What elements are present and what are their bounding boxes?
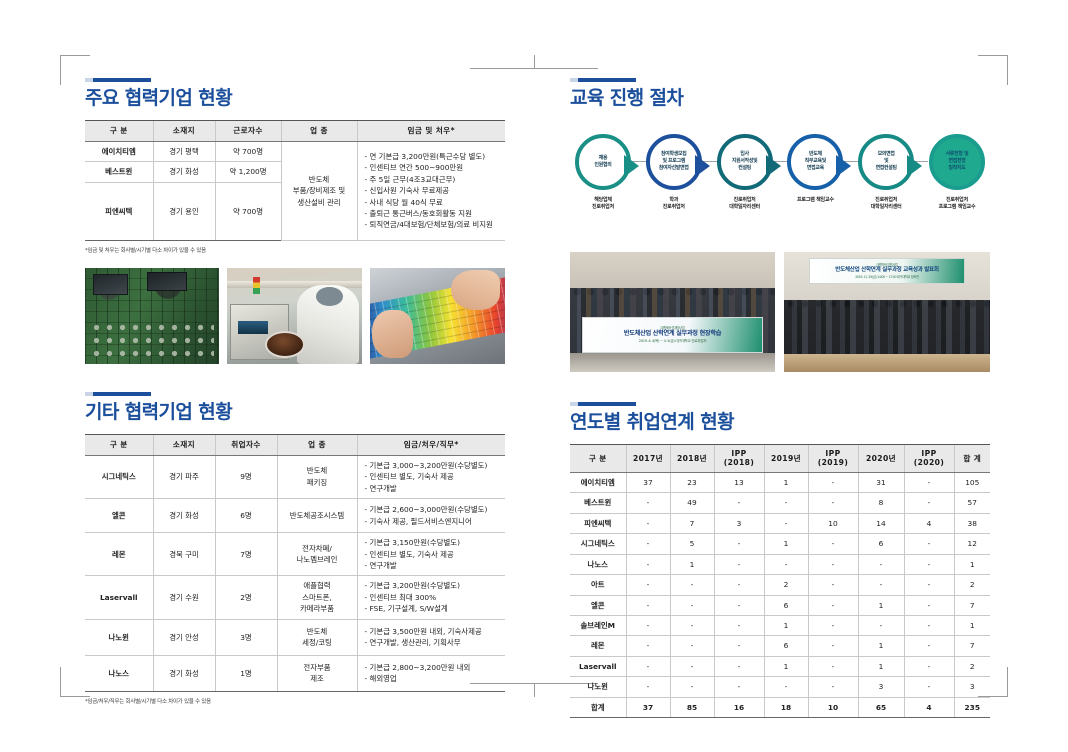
industry-line: 나노멤브레인 <box>282 554 353 565</box>
industry-line: 반도체 <box>286 174 353 185</box>
banner-title: 반도체산업 산학연계 실무과정 교육성과 발표회 <box>835 267 939 273</box>
cell-industry: 반도체공조시스템 <box>277 499 357 533</box>
photo-banner-left: 대학혁신지원사업 반도체산업 산학연계 실무과정 현장학습 2019. 4. 4… <box>582 317 762 353</box>
photo-pair-group: 대학혁신지원사업 반도체산업 산학연계 실무과정 현장학습 2019. 4. 4… <box>570 252 990 372</box>
cell-year-value: - <box>904 656 954 676</box>
detail-line: - FSE, 기구설계, S/W설계 <box>365 603 502 614</box>
cell-year-value: 1 <box>858 656 904 676</box>
cell-year-value: - <box>626 513 670 533</box>
cell-year-value: - <box>626 493 670 513</box>
cell-year-value: 18 <box>764 697 808 717</box>
industry-line: 생산설비 관리 <box>286 197 353 208</box>
cell-year-value: 2 <box>764 575 808 595</box>
cell-year-value: - <box>904 472 954 492</box>
banner-date: 2019. 4. 4(목) ~ 4. 5(금) 대구대학교 진로취업처 <box>624 339 721 344</box>
cell-year-value: - <box>626 656 670 676</box>
cell-location: 경기 평택 <box>153 141 215 161</box>
cell-year-value: - <box>626 677 670 697</box>
table-row: 엘콘 경기 화성 6명 반도체공조시스템 - 기본급 2,600~3,000만원… <box>85 499 505 533</box>
cell-company-name: 나노스 <box>570 554 626 574</box>
cell-industry: 전자차폐/ 나노멤브레인 <box>277 533 357 576</box>
heading-rule <box>85 392 151 396</box>
cell-details: - 기본급 2,600~3,000만원(수당별도) - 기숙사 제공, 필드서비… <box>357 499 505 533</box>
cell-company-name: 엘콘 <box>570 595 626 615</box>
cell-workers: 약 1,200명 <box>215 162 281 182</box>
heading-rule <box>570 402 636 406</box>
cell-year-value: - <box>764 677 808 697</box>
cell-year-value: - <box>904 677 954 697</box>
industry-line: 반도체 <box>282 465 353 476</box>
cell-year-value: - <box>904 615 954 635</box>
cell-year-value: - <box>714 656 764 676</box>
table-row: 아트---2---2 <box>570 575 990 595</box>
cell-year-value: - <box>904 636 954 656</box>
step-line: 컨설팅 <box>732 165 758 172</box>
col-header-industry: 업 종 <box>277 434 357 455</box>
industry-line: 카메라부품 <box>282 603 353 614</box>
cell-company-name: Laservall <box>570 656 626 676</box>
caption-line: 대학일자리센터 <box>729 204 760 212</box>
cell-year-value: 7 <box>954 595 990 615</box>
cell-industry: 반도체 패키징 <box>277 455 357 498</box>
cell-year-value: - <box>626 595 670 615</box>
cell-year-value: 57 <box>954 493 990 513</box>
arrow-right-icon <box>695 155 710 177</box>
detail-line: - 인센티브 별도, 기숙사 제공 <box>365 471 502 482</box>
cell-hires: 2명 <box>215 576 277 619</box>
step-line: 인원협의 <box>595 162 612 169</box>
industry-line: 스마트폰, <box>282 592 353 603</box>
cell-year-value: 3 <box>858 677 904 697</box>
cell-year-value: - <box>904 554 954 574</box>
cell-year-value: - <box>626 554 670 574</box>
cell-company-name: 베스트윈 <box>570 493 626 513</box>
cell-year-value: 6 <box>764 636 808 656</box>
cell-company-name: 엘콘 <box>85 499 153 533</box>
cell-company-name: 피엔씨텍 <box>85 182 153 240</box>
cell-year-value: 105 <box>954 472 990 492</box>
cell-year-value: 3 <box>954 677 990 697</box>
right-column: 교육 진행 절차 채용 인원협의 해당업체 <box>570 78 990 718</box>
process-step-circle: 반도체 직무교육및 면접교육 <box>787 134 843 190</box>
col-header-location: 소재지 <box>153 434 215 455</box>
col-header-ipp2018: IPP (2018) <box>714 444 764 472</box>
col-header-industry: 업 종 <box>281 120 357 141</box>
cell-company-name: 레몬 <box>570 636 626 656</box>
industry-line: 패키징 <box>282 477 353 488</box>
photo-field-study-group: 대학혁신지원사업 반도체산업 산학연계 실무과정 현장학습 2019. 4. 4… <box>570 252 775 372</box>
cell-year-value: 5 <box>670 534 714 554</box>
cell-wage-benefits: - 연 기본급 3,200만원(특근수당 별도) - 인센티브 연간 500~9… <box>357 141 505 240</box>
caption-line: 프로그램 책임교수 <box>939 204 976 212</box>
cell-year-value: - <box>670 677 714 697</box>
page-title-other-partners: 기타 협력기업 현황 <box>85 402 505 424</box>
detail-line: - 기본급 2,800~3,200만원 내외 <box>365 662 502 673</box>
cell-year-value: - <box>904 575 954 595</box>
left-column: 주요 협력기업 현황 구 분 소재지 근로자수 업 종 임금 및 처우* 에이치… <box>85 78 505 705</box>
cell-company-name: 에이치티엠 <box>85 141 153 161</box>
banner-date: 2019. 11. 29(금) 14:00 ~ 17:00 대구대학교 창조관 <box>835 275 939 279</box>
step-line: 채용 <box>595 155 612 162</box>
table-row: 엘콘---6-1-7 <box>570 595 990 615</box>
cell-year-value: - <box>714 554 764 574</box>
benefit-line: - 연 기본급 3,200만원(특근수당 별도) <box>365 151 502 162</box>
process-step-circle: 모의면접 및 면접컨설팅 <box>858 134 914 190</box>
col-header-wage: 임금 및 처우* <box>357 120 505 141</box>
benefit-line: - 출퇴근 통근버스/동호회활동 지원 <box>365 208 502 219</box>
table-header-row: 구 분 소재지 근로자수 업 종 임금 및 처우* <box>85 120 505 141</box>
cell-location: 경기 수원 <box>153 576 215 619</box>
cell-year-value: 1 <box>764 656 808 676</box>
col-header-2017: 2017년 <box>626 444 670 472</box>
cell-year-value: 1 <box>764 534 808 554</box>
table-row: 레몬 경북 구미 7명 전자차폐/ 나노멤브레인 - 기본급 3,150만원(수… <box>85 533 505 576</box>
cell-hires: 7명 <box>215 533 277 576</box>
fold-tick-bottom <box>534 683 535 697</box>
industry-line: 전자부품 <box>282 662 353 673</box>
cell-hires: 6명 <box>215 499 277 533</box>
cell-year-value: - <box>904 534 954 554</box>
cell-year-value: - <box>904 595 954 615</box>
page-title-process: 교육 진행 절차 <box>570 88 990 110</box>
heading-rule <box>570 78 636 82</box>
photo-pcb-board <box>85 268 219 364</box>
table-header-row: 구 분 소재지 취업자수 업 종 임금/처우/직무* <box>85 434 505 455</box>
cell-year-value: - <box>764 554 808 574</box>
table-row: 나노윈-----3-3 <box>570 677 990 697</box>
cell-year-value: - <box>714 636 764 656</box>
process-step-caption: 진로취업처 대학일자리센터 <box>871 197 902 212</box>
cell-year-value: - <box>808 575 858 595</box>
cell-location: 경북 구미 <box>153 533 215 576</box>
industry-line: 전자차폐/ <box>282 543 353 554</box>
detail-line: - 연구개발 <box>365 560 502 571</box>
cell-year-value: 37 <box>626 697 670 717</box>
cell-year-value: 4 <box>904 513 954 533</box>
cell-year-value: 1 <box>858 595 904 615</box>
section-process-header: 교육 진행 절차 <box>570 78 990 110</box>
detail-line: - 해외영업 <box>365 673 502 684</box>
photo-results-presentation-group: 대학혁신지원사업 반도체산업 산학연계 실무과정 교육성과 발표회 2019. … <box>784 252 990 372</box>
col-header-total: 합 계 <box>954 444 990 472</box>
industry-line: 애플협력 <box>282 580 353 591</box>
table-row: 에이치티엠3723131-31-105 <box>570 472 990 492</box>
heading-rule <box>85 78 151 82</box>
cell-year-value: 1 <box>670 554 714 574</box>
col-header-hires: 취업자수 <box>215 434 277 455</box>
cell-year-value: 8 <box>858 493 904 513</box>
cell-year-value: 23 <box>670 472 714 492</box>
industry-line: 제조 <box>282 673 353 684</box>
caption-line: 프로그램 책임교수 <box>797 197 834 205</box>
cell-location: 경기 용인 <box>153 182 215 240</box>
col-header-2018: 2018년 <box>670 444 714 472</box>
cell-year-value: 1 <box>764 472 808 492</box>
cell-location: 경기 안성 <box>153 619 215 655</box>
table-row: 피엔씨텍-73-1014438 <box>570 513 990 533</box>
process-step-caption: 진로취업처 프로그램 책임교수 <box>939 197 976 212</box>
cell-year-value: 16 <box>714 697 764 717</box>
table-row: 베스트윈-49---8-57 <box>570 493 990 513</box>
cell-year-value: - <box>626 534 670 554</box>
col-header-ipp2020: IPP (2020) <box>904 444 954 472</box>
cell-company-name: 레몬 <box>85 533 153 576</box>
cell-year-value: - <box>808 595 858 615</box>
cell-year-value: 10 <box>808 697 858 717</box>
table-row: 시그네틱스 경기 파주 9명 반도체 패키징 - 기본급 3,000~3,200… <box>85 455 505 498</box>
process-flow-diagram: 채용 인원협의 해당업체 진로취업처 참여학생모집 및 프로그램 <box>570 134 990 238</box>
detail-line: - 기본급 3,000~3,200만원(수당별도) <box>365 460 502 471</box>
step-line: 참여자선발면접 <box>659 165 689 172</box>
cell-year-value: - <box>714 615 764 635</box>
industry-line: 부품/장비제조 및 <box>286 185 353 196</box>
cell-company-name: 나노윈 <box>85 619 153 655</box>
cell-year-value: - <box>626 636 670 656</box>
cell-year-value: - <box>808 534 858 554</box>
table-row: 시그네틱스-5-1-6-12 <box>570 534 990 554</box>
cell-year-value: 235 <box>954 697 990 717</box>
cell-year-value: - <box>764 513 808 533</box>
cell-year-value: 6 <box>764 595 808 615</box>
cell-year-value: 2 <box>954 575 990 595</box>
cell-year-value: 49 <box>670 493 714 513</box>
cell-company-name: 나노윈 <box>570 677 626 697</box>
cell-workers: 약 700명 <box>215 182 281 240</box>
cell-year-value: 12 <box>954 534 990 554</box>
col-header-division: 구 분 <box>570 444 626 472</box>
cell-year-value: 4 <box>904 697 954 717</box>
table-row: 합계3785161810654235 <box>570 697 990 717</box>
col-header-2019: 2019년 <box>764 444 808 472</box>
cell-details: - 기본급 3,500만원 내외, 기숙사제공 - 연구개발, 생산관리, 기획… <box>357 619 505 655</box>
table-row: 에이치티엠 경기 평택 약 700명 반도체 부품/장비제조 및 생산설비 관리… <box>85 141 505 161</box>
cell-year-value: - <box>714 595 764 615</box>
col-header-ipp2019: IPP (2019) <box>808 444 858 472</box>
cell-hires: 1명 <box>215 655 277 691</box>
cell-year-value: - <box>764 493 808 513</box>
detail-line: - 기본급 2,600~3,000만원(수당별도) <box>365 504 502 515</box>
table-row: 나노윈 경기 안성 3명 반도체 세정/코팅 - 기본급 3,500만원 내외,… <box>85 619 505 655</box>
banner-title: 반도체산업 산학연계 실무과정 현장학습 <box>624 330 721 337</box>
caption-line: 대학일자리센터 <box>871 204 902 212</box>
cell-details: - 기본급 3,150만원(수당별도) - 인센티브 별도, 기숙사 제공 - … <box>357 533 505 576</box>
fold-rule-top-left <box>470 68 534 69</box>
cell-details: - 기본급 3,200만원(수당별도) - 인센티브 최대 300% - FSE… <box>357 576 505 619</box>
cell-year-value: - <box>858 615 904 635</box>
process-step-circle: 채용 인원협의 <box>575 134 631 190</box>
cell-company-name: 아트 <box>570 575 626 595</box>
cell-year-value: - <box>808 656 858 676</box>
document-page: 주요 협력기업 현황 구 분 소재지 근로자수 업 종 임금 및 처우* 에이치… <box>0 0 1068 752</box>
cell-year-value: - <box>626 575 670 595</box>
cell-year-value: - <box>904 493 954 513</box>
cell-company-name: 솔브레인M <box>570 615 626 635</box>
industry-line: 반도체공조시스템 <box>282 510 353 521</box>
photo-banner-right: 대학혁신지원사업 반도체산업 산학연계 실무과정 교육성과 발표회 2019. … <box>809 258 966 284</box>
benefit-line: - 퇴직연금/4대보험/단체보험/의료 비지원 <box>365 219 502 230</box>
benefit-line: - 사내 식당 월 40식 무료 <box>365 197 502 208</box>
cell-workers: 약 700명 <box>215 141 281 161</box>
section-other-partners-header: 기타 협력기업 현황 <box>85 392 505 424</box>
cell-year-value: - <box>670 636 714 656</box>
process-step-circle: 입사 지원서작성및 컨설팅 <box>717 134 773 190</box>
cell-year-value: - <box>670 615 714 635</box>
cell-industry: 반도체 부품/장비제조 및 생산설비 관리 <box>281 141 357 240</box>
cell-year-value: 2 <box>954 656 990 676</box>
cell-company-name: 에이치티엠 <box>570 472 626 492</box>
cell-company-name: Laservall <box>85 576 153 619</box>
industry-line: 세정/코팅 <box>282 637 353 648</box>
process-step-3: 입사 지원서작성및 컨설팅 진로취업처 대학일자리센터 <box>712 134 778 212</box>
table-row: 나노스-1-----1 <box>570 554 990 574</box>
process-step-2: 참여학생모집 및 프로그램 참여자선발면접 학과 진로취업처 <box>641 134 707 212</box>
page-title-yearly: 연도별 취업연계 현황 <box>570 412 990 434</box>
cell-year-value: 37 <box>626 472 670 492</box>
cell-year-value: 13 <box>714 472 764 492</box>
process-step-1: 채용 인원협의 해당업체 진로취업처 <box>570 134 636 212</box>
table-footnote: *임금 및 처우는 회사별/시기별 다소 차이가 있을 수 있음 <box>85 246 505 254</box>
cell-company-name: 시그네틱스 <box>85 455 153 498</box>
cell-hires: 3명 <box>215 619 277 655</box>
step-line: 면접교육 <box>805 165 826 172</box>
cell-year-value: - <box>670 595 714 615</box>
photo-silicon-wafer <box>370 268 505 364</box>
process-step-caption: 진로취업처 대학일자리센터 <box>729 197 760 212</box>
cell-year-value: - <box>670 575 714 595</box>
cell-year-value: 14 <box>858 513 904 533</box>
detail-line: - 기숙사 제공, 필드서비스엔지니어 <box>365 516 502 527</box>
benefit-line: - 신입사원 기숙사 무료제공 <box>365 185 502 196</box>
process-step-5: 모의면접 및 면접컨설팅 진로취업처 대학일자리센터 <box>853 134 919 212</box>
detail-line: - 연구개발 <box>365 483 502 494</box>
col-header-division: 구 분 <box>85 434 153 455</box>
photo-strip-semiconductor <box>85 268 505 364</box>
process-step-caption: 해당업체 진로취업처 <box>592 197 614 212</box>
cell-location: 경기 파주 <box>153 455 215 498</box>
cell-year-value: 1 <box>954 615 990 635</box>
cell-year-value: 3 <box>714 513 764 533</box>
cell-year-value: - <box>858 554 904 574</box>
cell-year-value: - <box>808 615 858 635</box>
section-main-partners-header: 주요 협력기업 현황 <box>85 78 505 110</box>
cell-industry: 애플협력 스마트폰, 카메라부품 <box>277 576 357 619</box>
table-yearly-employment: 구 분 2017년 2018년 IPP (2018) 2019년 IPP (20… <box>570 444 990 719</box>
detail-line: - 기본급 3,500만원 내외, 기숙사제공 <box>365 626 502 637</box>
process-step-4: 반도체 직무교육및 면접교육 프로그램 책임교수 <box>782 134 848 205</box>
table-row: Laservall 경기 수원 2명 애플협력 스마트폰, 카메라부품 - 기본… <box>85 576 505 619</box>
cell-details: - 기본급 2,800~3,200만원 내외 - 해외영업 <box>357 655 505 691</box>
table-row: 레몬---6-1-7 <box>570 636 990 656</box>
cell-year-value: 85 <box>670 697 714 717</box>
cell-year-value: 1 <box>954 554 990 574</box>
cell-year-value: - <box>858 575 904 595</box>
cell-company-name: 나노스 <box>85 655 153 691</box>
arrow-right-icon <box>907 155 922 177</box>
process-step-circle: 참여학생모집 및 프로그램 참여자선발면접 <box>646 134 702 190</box>
col-header-2020: 2020년 <box>858 444 904 472</box>
cell-year-value: 10 <box>808 513 858 533</box>
cell-year-value: 38 <box>954 513 990 533</box>
cell-year-value: 1 <box>764 615 808 635</box>
cell-company-name: 합계 <box>570 697 626 717</box>
cell-company-name: 베스트윈 <box>85 162 153 182</box>
cell-industry: 반도체 세정/코팅 <box>277 619 357 655</box>
cell-year-value: - <box>808 554 858 574</box>
table-row: Laservall---1-1-2 <box>570 656 990 676</box>
industry-line: 반도체 <box>282 626 353 637</box>
benefit-line: - 인센티브 연간 500~900만원 <box>365 162 502 173</box>
table-row: 나노스 경기 화성 1명 전자부품 제조 - 기본급 2,800~3,200만원… <box>85 655 505 691</box>
process-step-caption: 프로그램 책임교수 <box>797 197 834 205</box>
col-header-wage-duty: 임금/처우/직무* <box>357 434 505 455</box>
caption-line: 진로취업처 <box>663 204 685 212</box>
cell-location: 경기 화성 <box>153 655 215 691</box>
cell-year-value: 7 <box>954 636 990 656</box>
col-header-workers: 근로자수 <box>215 120 281 141</box>
cell-year-value: 7 <box>670 513 714 533</box>
cell-company-name: 피엔씨텍 <box>570 513 626 533</box>
detail-line: - 인센티브 별도, 기숙사 제공 <box>365 549 502 560</box>
process-step-circle: 서류전형 및 면접전형 밀착지도 <box>929 134 985 190</box>
benefit-line: - 주 5일 근무(4조3교대근무) <box>365 174 502 185</box>
cell-year-value: - <box>626 615 670 635</box>
cell-year-value: - <box>714 493 764 513</box>
cell-details: - 기본급 3,000~3,200만원(수당별도) - 인센티브 별도, 기숙사… <box>357 455 505 498</box>
table-other-partners: 구 분 소재지 취업자수 업 종 임금/처우/직무* 시그네틱스 경기 파주 9… <box>85 434 505 692</box>
cell-year-value: 6 <box>858 534 904 554</box>
cell-year-value: 65 <box>858 697 904 717</box>
table-footnote: *임금/처우/직무는 회사별/시기별 다소 차이가 있을 수 있음 <box>85 697 505 705</box>
cell-company-name: 시그네틱스 <box>570 534 626 554</box>
cell-year-value: 1 <box>858 636 904 656</box>
photo-cleanroom-worker <box>227 268 361 364</box>
cell-industry: 전자부품 제조 <box>277 655 357 691</box>
cell-location: 경기 화성 <box>153 162 215 182</box>
cell-year-value: - <box>670 656 714 676</box>
col-header-division: 구 분 <box>85 120 153 141</box>
cell-year-value: - <box>808 472 858 492</box>
arrow-right-icon <box>836 155 851 177</box>
section-yearly-header: 연도별 취업연계 현황 <box>570 402 990 434</box>
col-header-location: 소재지 <box>153 120 215 141</box>
cell-hires: 9명 <box>215 455 277 498</box>
arrow-right-icon <box>624 155 639 177</box>
table-row: 솔브레인M---1---1 <box>570 615 990 635</box>
cell-year-value: - <box>714 534 764 554</box>
detail-line: - 기본급 3,150만원(수당별도) <box>365 537 502 548</box>
step-line: 면접컨설팅 <box>876 165 897 172</box>
cell-year-value: - <box>808 636 858 656</box>
cell-year-value: 31 <box>858 472 904 492</box>
caption-line: 진로취업처 <box>592 204 614 212</box>
cell-year-value: - <box>808 677 858 697</box>
arrow-right-icon <box>766 155 781 177</box>
cell-year-value: - <box>714 575 764 595</box>
detail-line: - 연구개발, 생산관리, 기획사무 <box>365 637 502 648</box>
process-step-caption: 학과 진로취업처 <box>663 197 685 212</box>
fold-tick-top <box>534 55 535 69</box>
cell-year-value: - <box>808 493 858 513</box>
page-title-main-partners: 주요 협력기업 현황 <box>85 88 505 110</box>
cell-location: 경기 화성 <box>153 499 215 533</box>
detail-line: - 기본급 3,200만원(수당별도) <box>365 580 502 591</box>
table-main-partners: 구 분 소재지 근로자수 업 종 임금 및 처우* 에이치티엠 경기 평택 약 … <box>85 120 505 241</box>
cell-year-value: - <box>714 677 764 697</box>
fold-rule-top-right <box>534 68 598 69</box>
step-line: 밀착지도 <box>946 165 969 172</box>
detail-line: - 인센티브 최대 300% <box>365 592 502 603</box>
table-header-row: 구 분 2017년 2018년 IPP (2018) 2019년 IPP (20… <box>570 444 990 472</box>
